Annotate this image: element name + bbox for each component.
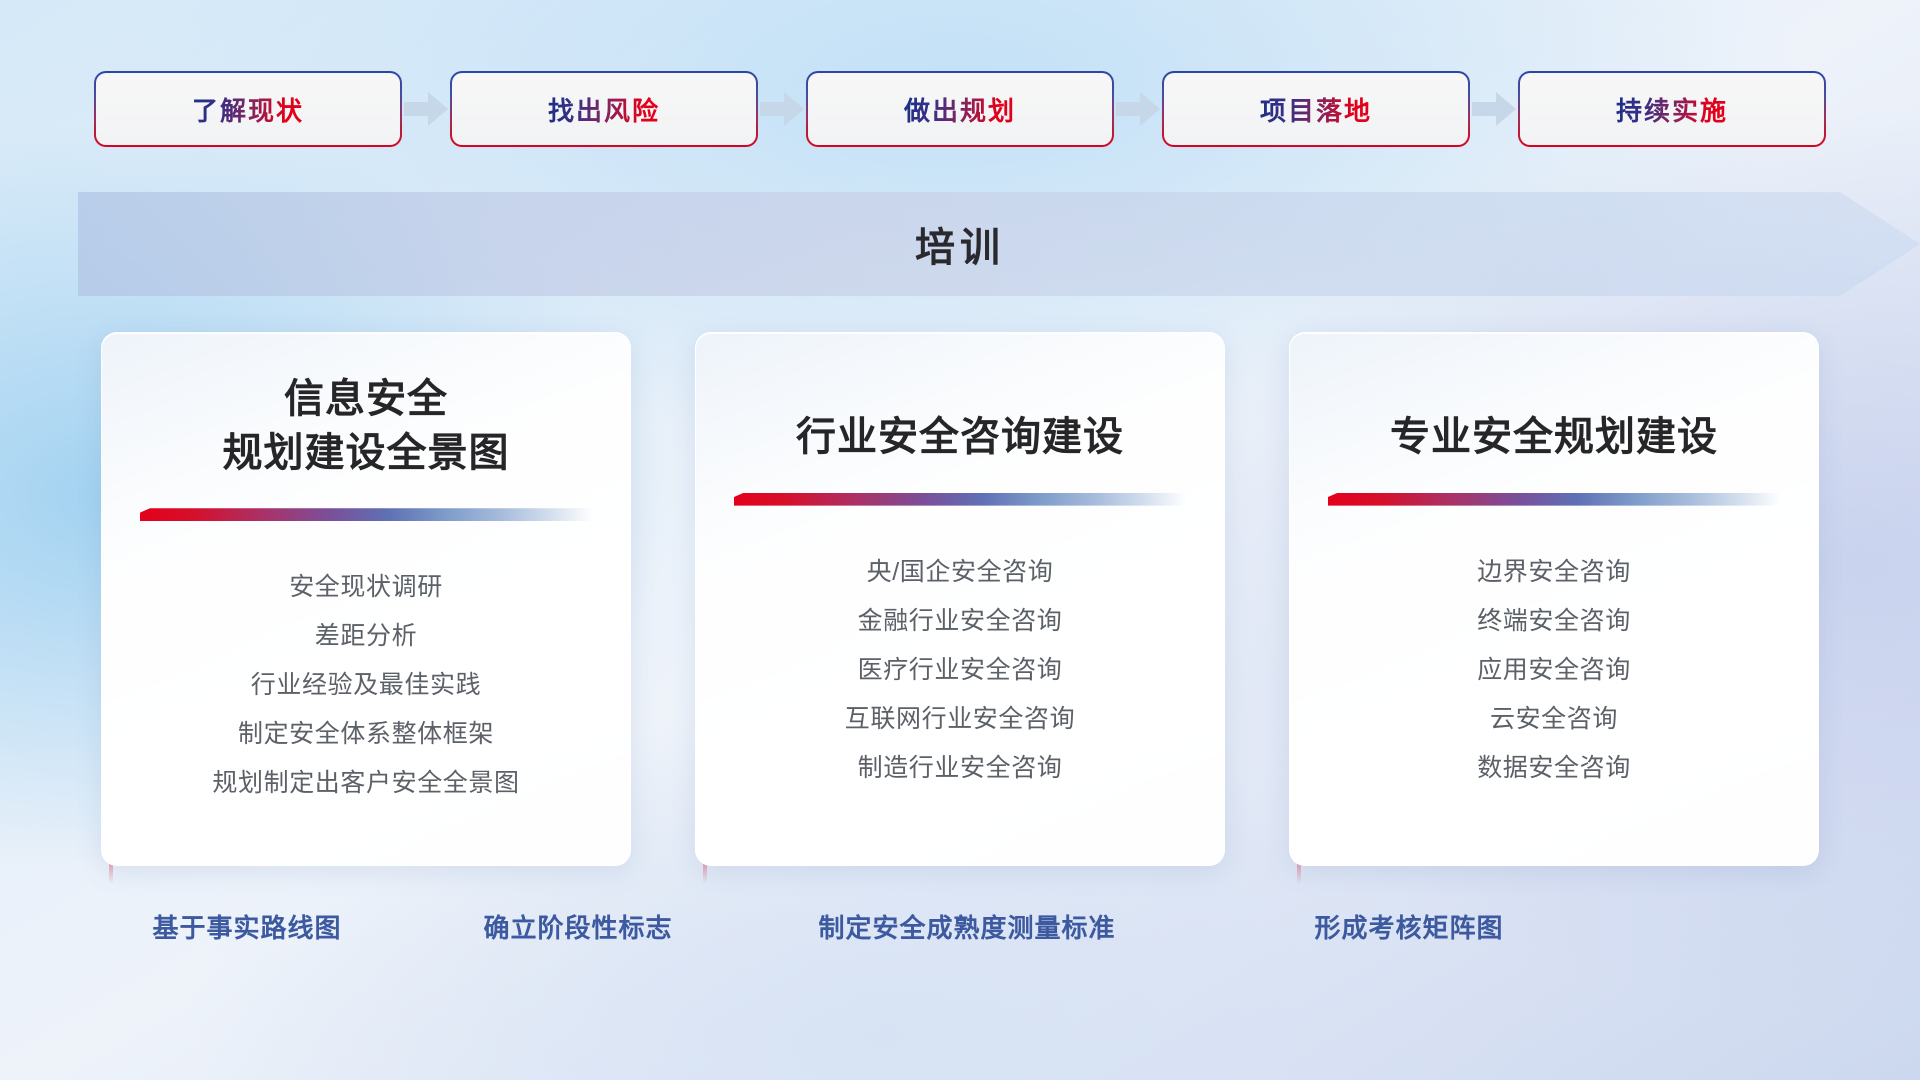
outcome-label-1: 确立阶段性标志 [483, 908, 672, 945]
list-item: 数据安全咨询 [1320, 744, 1788, 793]
list-item: 云安全咨询 [1320, 695, 1788, 744]
step-label: 了解现状 [192, 91, 304, 128]
step-label: 找出风险 [548, 91, 660, 128]
training-banner: 培训 [0, 192, 1920, 296]
capability-cards: 信息安全 规划建设全景图 安全现状调研 差距分析 行业经验及最佳实践 制定安全体… [0, 332, 1920, 882]
card-list: 央/国企安全咨询 金融行业安全咨询 医疗行业安全咨询 互联网行业安全咨询 制造行… [726, 548, 1194, 793]
list-item: 央/国企安全咨询 [726, 548, 1194, 597]
step-box-0[interactable]: 了解现状 [96, 73, 400, 145]
step-box-1[interactable]: 找出风险 [452, 73, 756, 145]
card-divider [1328, 493, 1780, 506]
list-item: 互联网行业安全咨询 [726, 695, 1194, 744]
step-box-3[interactable]: 项目落地 [1164, 73, 1468, 145]
list-item: 边界安全咨询 [1320, 548, 1788, 597]
card-title-line: 专业安全规划建设 [1390, 411, 1718, 465]
card-title: 信息安全 规划建设全景图 [223, 373, 510, 480]
list-item: 行业经验及最佳实践 [132, 661, 600, 710]
card-divider [140, 508, 592, 521]
card-wrap-2: 专业安全规划建设 边界安全咨询 终端安全咨询 应用安全咨询 云安全咨询 数据安全… [1289, 332, 1819, 882]
outcome-label-2: 制定安全成熟度测量标准 [818, 908, 1115, 945]
list-item: 金融行业安全咨询 [726, 597, 1194, 646]
step-label: 持续实施 [1616, 91, 1728, 128]
banner-title: 培训 [0, 192, 1920, 296]
card-0[interactable]: 信息安全 规划建设全景图 安全现状调研 差距分析 行业经验及最佳实践 制定安全体… [101, 332, 631, 866]
card-list: 边界安全咨询 终端安全咨询 应用安全咨询 云安全咨询 数据安全咨询 [1320, 548, 1788, 793]
outcome-label-0: 基于事实路线图 [152, 908, 341, 945]
card-title-line: 信息安全 [223, 373, 510, 427]
card-wrap-0: 信息安全 规划建设全景图 安全现状调研 差距分析 行业经验及最佳实践 制定安全体… [101, 332, 631, 882]
card-wrap-1: 行业安全咨询建设 央/国企安全咨询 金融行业安全咨询 医疗行业安全咨询 互联网行… [695, 332, 1225, 882]
card-list: 安全现状调研 差距分析 行业经验及最佳实践 制定安全体系整体框架 规划制定出客户… [132, 563, 600, 808]
process-steps-strip: 了解现状 找出风险 做出规划 项目落地 持续实施 [0, 72, 1920, 146]
outcome-label-3: 形成考核矩阵图 [1314, 908, 1503, 945]
step-box-2[interactable]: 做出规划 [808, 73, 1112, 145]
card-divider [734, 493, 1186, 506]
list-item: 安全现状调研 [132, 563, 600, 612]
step-label: 做出规划 [904, 91, 1016, 128]
arrow-right-icon [1112, 73, 1164, 145]
outcome-labels: 基于事实路线图 确立阶段性标志 制定安全成熟度测量标准 形成考核矩阵图 [0, 908, 1920, 968]
card-title: 行业安全咨询建设 [796, 411, 1124, 465]
card-title: 专业安全规划建设 [1390, 411, 1718, 465]
step-label: 项目落地 [1260, 91, 1372, 128]
list-item: 终端安全咨询 [1320, 597, 1788, 646]
list-item: 应用安全咨询 [1320, 646, 1788, 695]
arrow-right-icon [400, 73, 452, 145]
arrow-right-icon [756, 73, 808, 145]
card-2[interactable]: 专业安全规划建设 边界安全咨询 终端安全咨询 应用安全咨询 云安全咨询 数据安全… [1289, 332, 1819, 866]
list-item: 制造行业安全咨询 [726, 744, 1194, 793]
list-item: 制定安全体系整体框架 [132, 710, 600, 759]
list-item: 医疗行业安全咨询 [726, 646, 1194, 695]
step-box-4[interactable]: 持续实施 [1520, 73, 1824, 145]
card-1[interactable]: 行业安全咨询建设 央/国企安全咨询 金融行业安全咨询 医疗行业安全咨询 互联网行… [695, 332, 1225, 866]
card-title-line: 行业安全咨询建设 [796, 411, 1124, 465]
card-title-line: 规划建设全景图 [223, 427, 510, 481]
arrow-right-icon [1468, 73, 1520, 145]
list-item: 规划制定出客户安全全景图 [132, 759, 600, 808]
list-item: 差距分析 [132, 612, 600, 661]
